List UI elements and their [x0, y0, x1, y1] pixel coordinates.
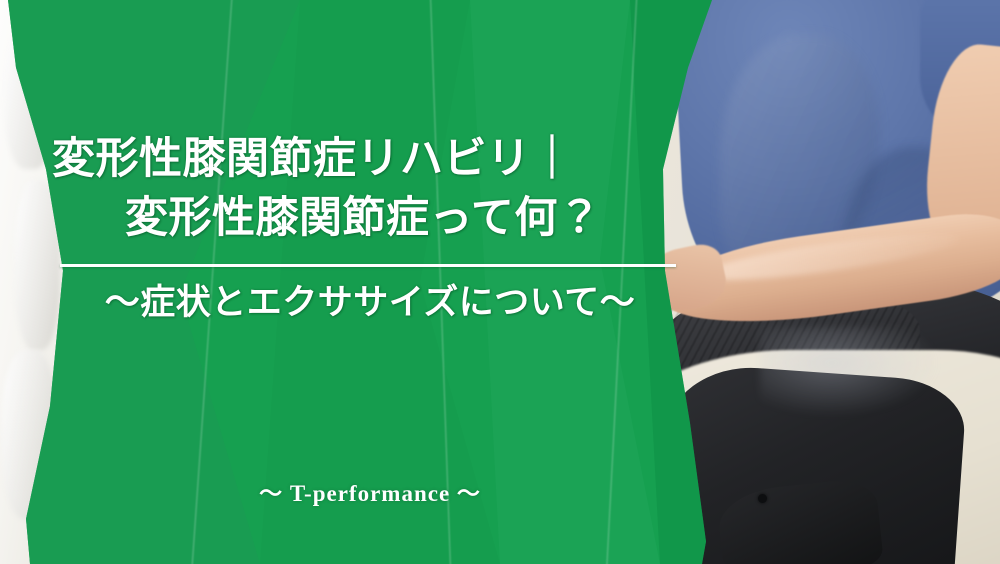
title-line-1: 変形性膝関節症リハビリ｜	[0, 130, 660, 189]
byline: 〜 T-performance 〜	[60, 474, 680, 508]
thumbnail-banner: 変形性膝関節症リハビリ｜ 変形性膝関節症って何？ 〜症状とエクササイズについて〜…	[0, 0, 1000, 564]
page-title: 変形性膝関節症リハビリ｜ 変形性膝関節症って何？	[0, 130, 660, 249]
subtitle: 〜症状とエクササイズについて〜	[60, 280, 680, 326]
knee-highlight	[760, 327, 940, 417]
title-divider	[60, 264, 676, 267]
trouser-cuff-button	[758, 494, 767, 503]
title-line-2: 変形性膝関節症って何？	[0, 189, 660, 248]
text-block: 変形性膝関節症リハビリ｜ 変形性膝関節症って何？ 〜症状とエクササイズについて〜…	[0, 0, 700, 564]
